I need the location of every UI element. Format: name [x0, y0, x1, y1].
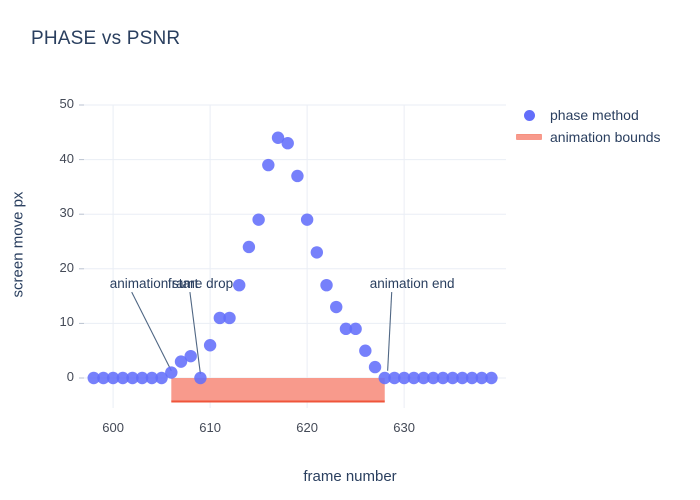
annotation-label: animation end — [370, 276, 455, 291]
circle-marker-icon — [512, 110, 546, 121]
x-tick-label: 630 — [374, 420, 434, 435]
axis-ticks — [79, 105, 84, 378]
legend[interactable]: phase method animation bounds — [512, 104, 692, 148]
x-tick-label: 600 — [83, 420, 143, 435]
y-tick-label: 30 — [34, 205, 74, 220]
y-tick-label: 0 — [34, 369, 74, 384]
annotation-label: frame drop — [168, 276, 233, 291]
x-axis-title: frame number — [0, 468, 700, 485]
chart-container: PHASE vs PSNR frame number screen move p… — [0, 0, 700, 500]
legend-item-phase-method[interactable]: phase method — [512, 104, 692, 126]
x-tick-label: 610 — [180, 420, 240, 435]
y-tick-label: 40 — [34, 151, 74, 166]
legend-label: animation bounds — [546, 129, 661, 145]
y-tick-label: 50 — [34, 96, 74, 111]
line-swatch-icon — [512, 134, 546, 140]
gridlines — [84, 105, 506, 408]
legend-item-animation-bounds[interactable]: animation bounds — [512, 126, 692, 148]
legend-label: phase method — [546, 107, 639, 123]
phase-method-points — [88, 132, 498, 385]
y-tick-label: 10 — [34, 314, 74, 329]
y-tick-label: 20 — [34, 260, 74, 275]
x-tick-label: 620 — [277, 420, 337, 435]
y-axis-title: screen move px — [10, 165, 27, 325]
